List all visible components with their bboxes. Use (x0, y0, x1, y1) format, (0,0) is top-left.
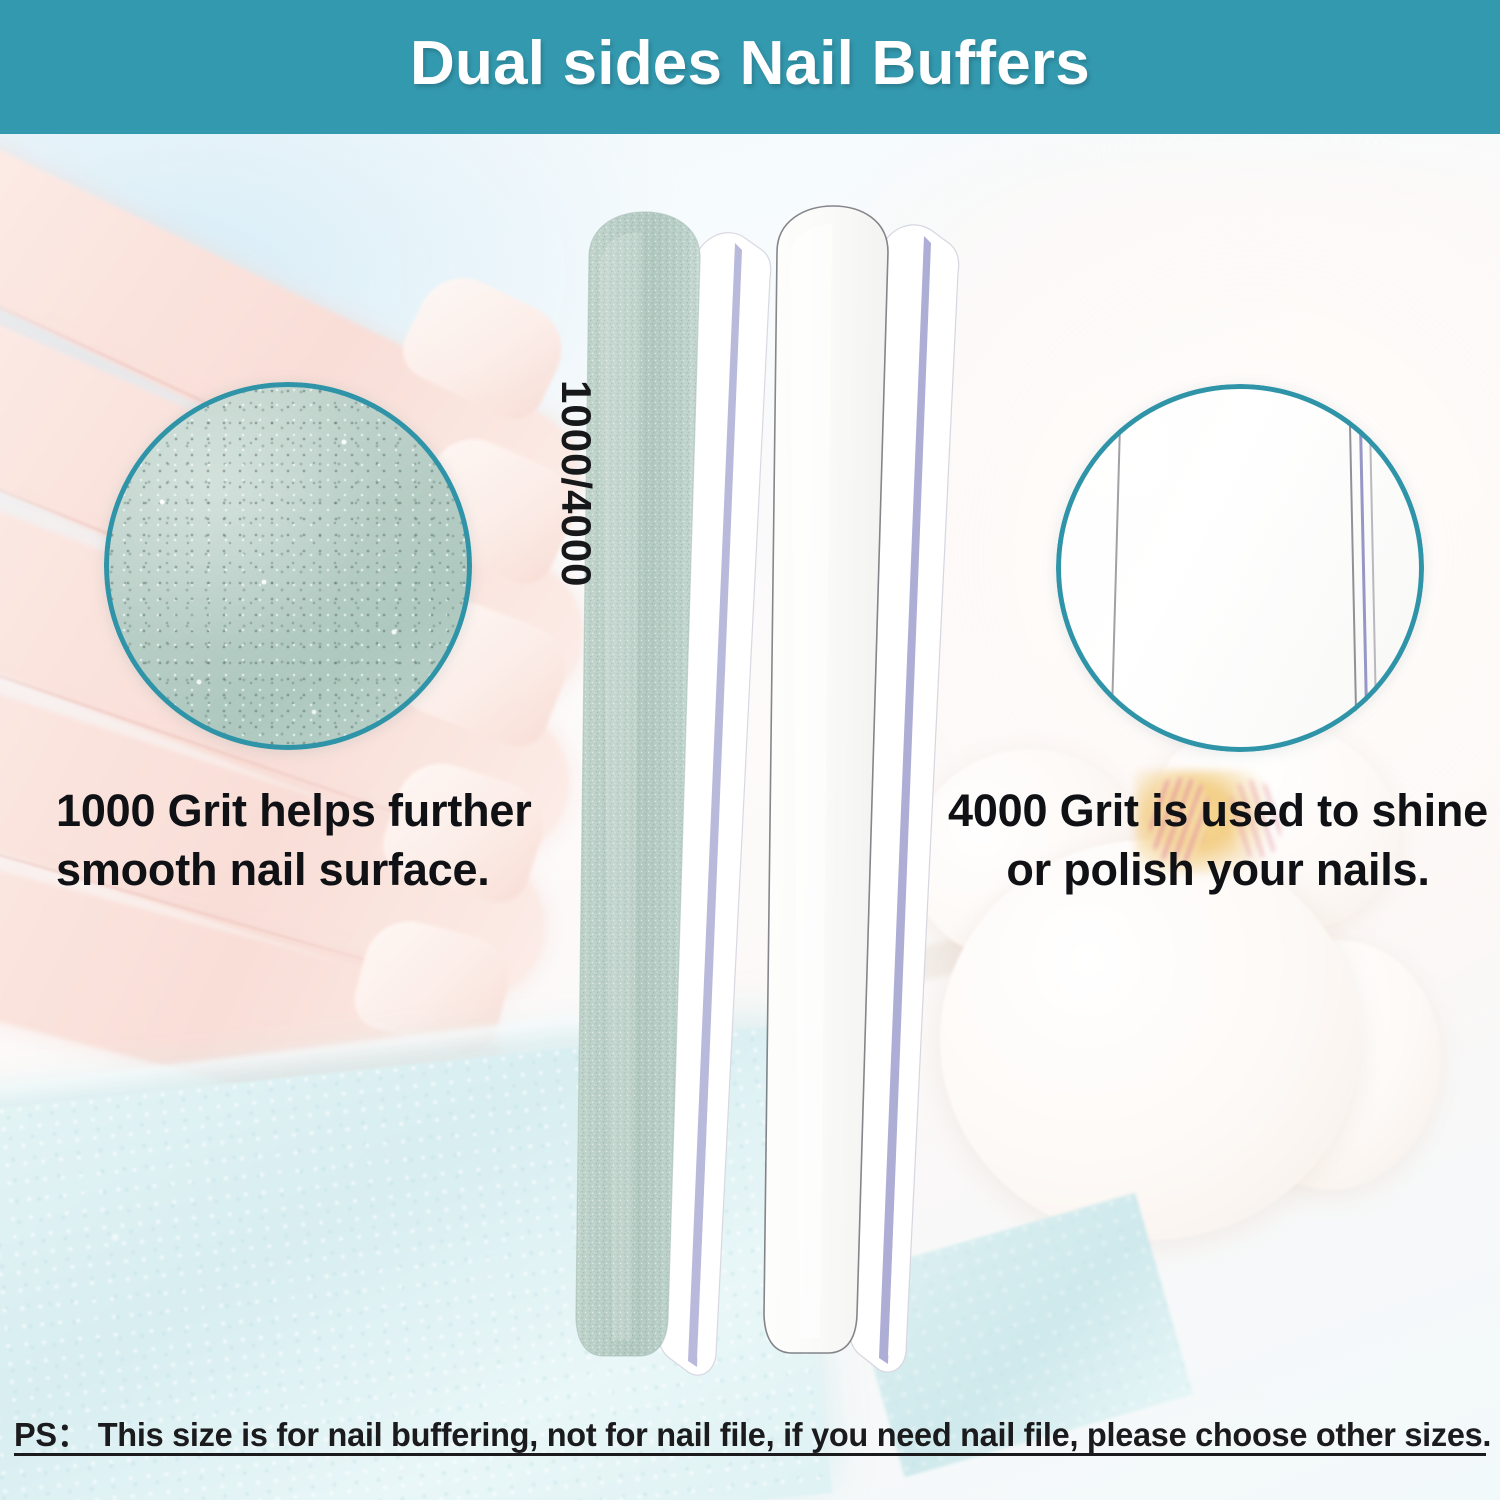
infographic-canvas: 1000/4000 Dual sides Nail Buffers 1000 G… (0, 0, 1500, 1500)
caption-4000-grit: 4000 Grit is used to shine or polish you… (938, 782, 1498, 899)
grit-surface-sparkle (104, 382, 472, 750)
grit-label: 1000/4000 (552, 380, 600, 588)
white-buffer-4000-grit (764, 206, 959, 1372)
header-bar: Dual sides Nail Buffers (0, 0, 1500, 134)
caption-1000-grit: 1000 Grit helps further smooth nail surf… (56, 782, 576, 899)
page-title: Dual sides Nail Buffers (410, 33, 1090, 101)
green-buffer-1000-grit (576, 212, 771, 1375)
footer-note-area: PS： This size is for nail buffering, not… (0, 1406, 1500, 1500)
smooth-surface-glow (1056, 384, 1277, 605)
ps-note: PS： This size is for nail buffering, not… (14, 1414, 1491, 1455)
zoom-circle-1000-grit (104, 382, 472, 750)
zoom-circle-4000-grit (1056, 384, 1424, 752)
ps-underline (14, 1453, 1486, 1456)
